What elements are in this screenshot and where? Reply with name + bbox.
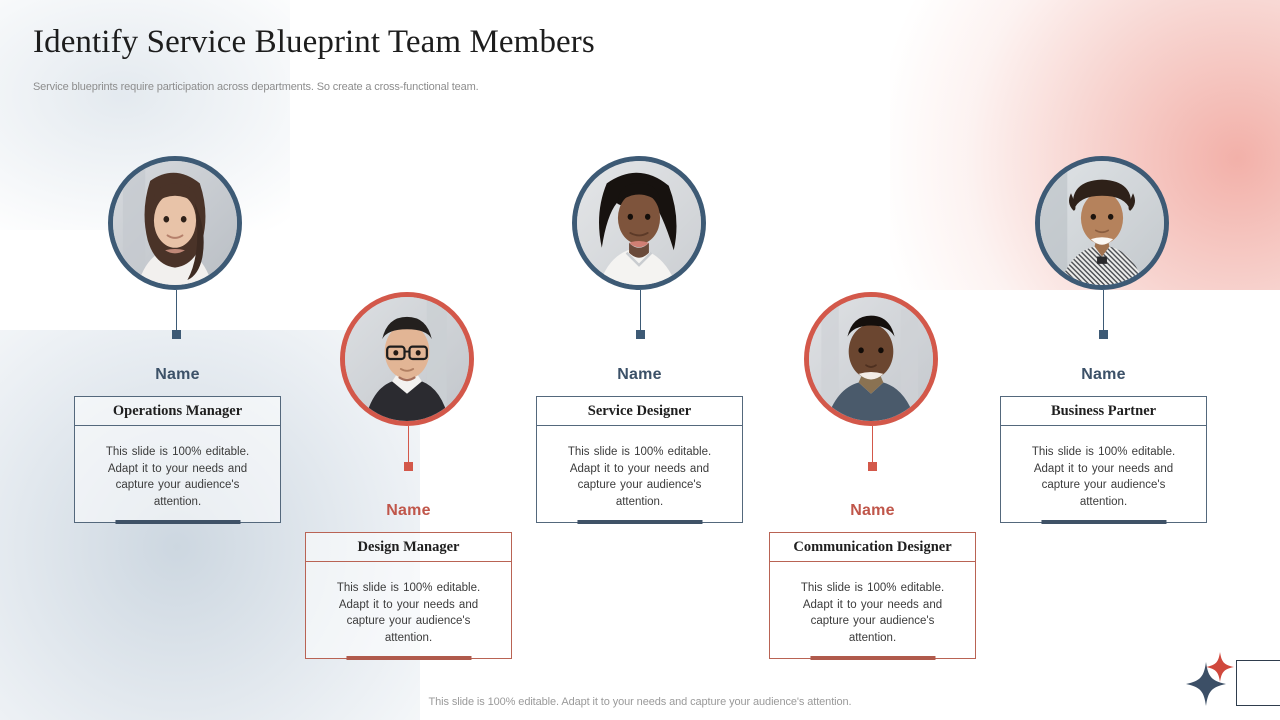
member-name-5: Name — [1001, 366, 1206, 384]
page-subtitle: Service blueprints require participation… — [33, 81, 479, 93]
member-role-2: Design Manager — [306, 533, 511, 562]
member-card-operations-manager[interactable]: Name Operations Manager This slide is 10… — [74, 396, 281, 523]
avatar-woman-long-hair — [108, 156, 242, 290]
member-name-4: Name — [770, 502, 975, 520]
member-name-2: Name — [306, 502, 511, 520]
member-name-3: Name — [537, 366, 742, 384]
member-card-service-designer[interactable]: Name Service Designer This slide is 100%… — [536, 396, 743, 523]
member-role-4: Communication Designer — [770, 533, 975, 562]
member-body-1: This slide is 100% editable. Adapt it to… — [75, 426, 280, 510]
card-accent-bar-3 — [577, 520, 702, 524]
member-body-4: This slide is 100% editable. Adapt it to… — [770, 562, 975, 646]
member-body-5: This slide is 100% editable. Adapt it to… — [1001, 426, 1206, 510]
avatar-woman-short-hair — [1035, 156, 1169, 290]
member-card-design-manager[interactable]: Name Design Manager This slide is 100% e… — [305, 532, 512, 659]
card-accent-bar-2 — [346, 656, 471, 660]
connector-line-1 — [176, 290, 177, 330]
member-role-1: Operations Manager — [75, 397, 280, 426]
connector-node-1 — [172, 330, 181, 339]
member-body-3: This slide is 100% editable. Adapt it to… — [537, 426, 742, 510]
member-role-3: Service Designer — [537, 397, 742, 426]
avatar-man-suit — [804, 292, 938, 426]
member-name-1: Name — [75, 366, 280, 384]
connector-line-4 — [872, 426, 873, 462]
member-role-5: Business Partner — [1001, 397, 1206, 426]
member-body-2: This slide is 100% editable. Adapt it to… — [306, 562, 511, 646]
member-card-communication-designer[interactable]: Name Communication Designer This slide i… — [769, 532, 976, 659]
card-accent-bar-1 — [115, 520, 240, 524]
connector-node-2 — [404, 462, 413, 471]
connector-node-3 — [636, 330, 645, 339]
corner-frame — [1236, 660, 1280, 706]
connector-line-2 — [408, 426, 409, 462]
avatar-man-glasses — [340, 292, 474, 426]
footer-note: This slide is 100% editable. Adapt it to… — [0, 696, 1280, 708]
connector-line-5 — [1103, 290, 1104, 330]
sparkle-icon-red — [1206, 652, 1234, 682]
connector-node-4 — [868, 462, 877, 471]
avatar-woman-curly-hair — [572, 156, 706, 290]
connector-line-3 — [640, 290, 641, 330]
page-title: Identify Service Blueprint Team Members — [33, 24, 595, 61]
card-accent-bar-5 — [1041, 520, 1166, 524]
card-accent-bar-4 — [810, 656, 935, 660]
connector-node-5 — [1099, 330, 1108, 339]
member-card-business-partner[interactable]: Name Business Partner This slide is 100%… — [1000, 396, 1207, 523]
